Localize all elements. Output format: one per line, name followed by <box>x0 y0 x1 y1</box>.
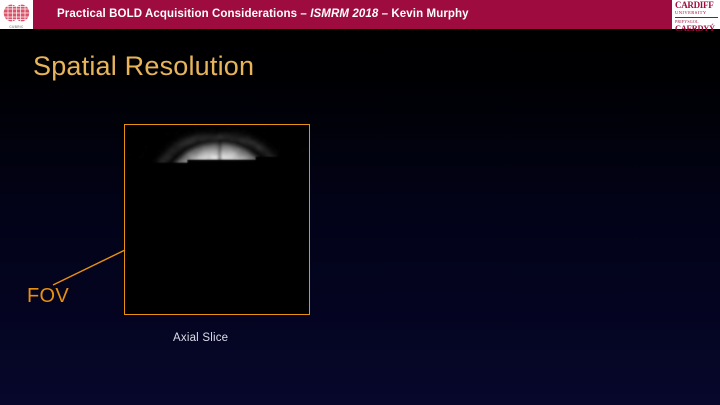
header-title: Practical BOLD Acquisition Consideration… <box>57 0 469 29</box>
cardiff-logo-line2: UNIVERSITY <box>675 10 718 16</box>
header-title-conference: ISMRM 2018 <box>310 8 378 20</box>
cardiff-logo-line4: CAERDYÝ <box>675 24 718 33</box>
header-title-part2: – Kevin Murphy <box>378 8 468 20</box>
page-title: Spatial Resolution <box>33 51 254 82</box>
brain-icon <box>0 0 33 26</box>
figure-caption: Axial Slice <box>173 332 228 344</box>
cardiff-university-logo: CARDIFF UNIVERSITY PRIFYSGOL CAERDYÝ <box>672 0 720 29</box>
cardiff-logo-divider <box>675 17 718 18</box>
fov-image-frame <box>124 124 310 315</box>
slide-canvas: Practical BOLD Acquisition Consideration… <box>0 0 720 405</box>
axial-brain-mri-image <box>125 125 309 314</box>
header-title-part1: Practical BOLD Acquisition Consideration… <box>57 8 310 20</box>
fov-label: FOV <box>27 285 69 308</box>
cubric-wordmark: CUBRIC <box>0 25 33 29</box>
cubric-brain-logo: CUBRIC <box>0 0 33 29</box>
cardiff-logo-line1: CARDIFF <box>675 1 718 10</box>
